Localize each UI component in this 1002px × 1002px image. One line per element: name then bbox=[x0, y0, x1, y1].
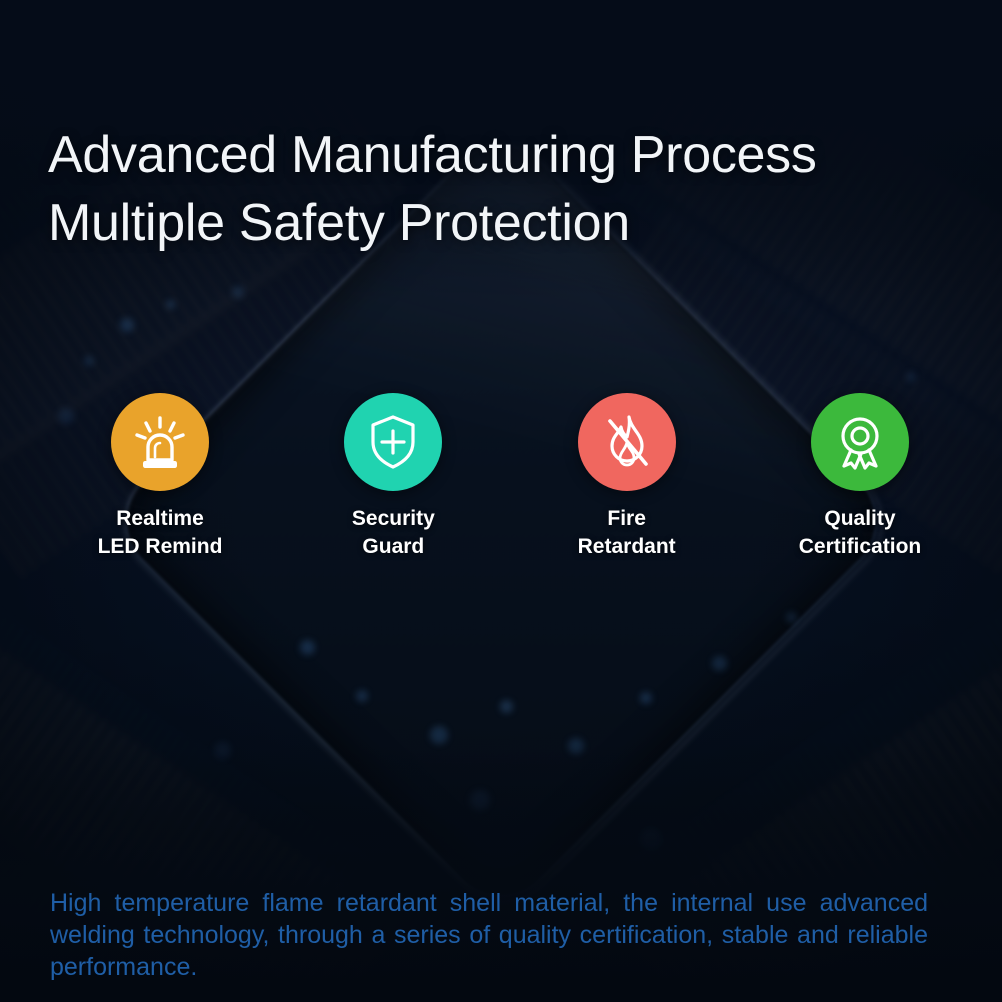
no-fire-icon bbox=[597, 412, 657, 472]
siren-beacon-icon bbox=[130, 412, 190, 472]
shield-plus-icon bbox=[363, 412, 423, 472]
award-ribbon-icon bbox=[830, 412, 890, 472]
feature-badge bbox=[811, 393, 909, 491]
feature-list: Realtime LED Remind Security Guard bbox=[60, 393, 960, 561]
feature-item-security-guard[interactable]: Security Guard bbox=[293, 393, 493, 561]
feature-label: Realtime LED Remind bbox=[98, 505, 223, 561]
feature-item-quality-certification[interactable]: Quality Certification bbox=[760, 393, 960, 561]
feature-badge bbox=[344, 393, 442, 491]
feature-badge bbox=[111, 393, 209, 491]
page-title: Advanced Manufacturing Process Multiple … bbox=[48, 121, 817, 257]
feature-item-fire-retardant[interactable]: Fire Retardant bbox=[527, 393, 727, 561]
feature-badge bbox=[578, 393, 676, 491]
promo-banner: Advanced Manufacturing Process Multiple … bbox=[0, 0, 1002, 1002]
feature-label: Fire Retardant bbox=[578, 505, 676, 561]
feature-label: Quality Certification bbox=[799, 505, 922, 561]
description-paragraph: High temperature flame retardant shell m… bbox=[50, 887, 928, 1002]
feature-label: Security Guard bbox=[352, 505, 435, 561]
feature-item-realtime-led-remind[interactable]: Realtime LED Remind bbox=[60, 393, 260, 561]
